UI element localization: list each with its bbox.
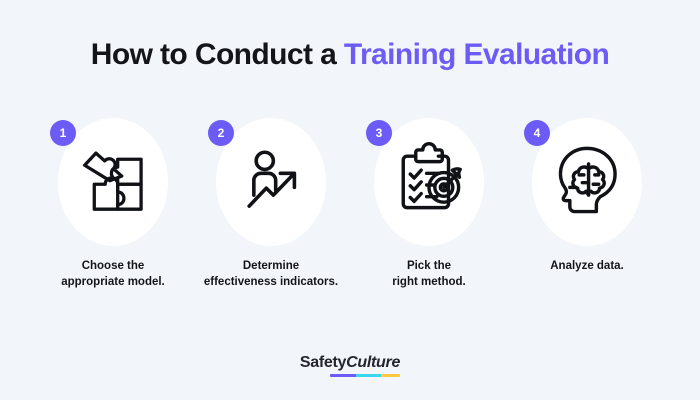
head-brain-gear-icon <box>548 139 626 217</box>
step-2-illustration: 2 <box>212 110 330 246</box>
step-item-1: 1 Choose the appropriate model. <box>34 110 192 291</box>
puzzle-pieces-icon <box>74 139 152 217</box>
step-2-number-badge: 2 <box>208 120 234 146</box>
logo-bar-segment-yellow <box>381 374 401 377</box>
step-3-illustration: 3 <box>370 110 488 246</box>
step-item-4: 4 Analyze data. <box>508 110 666 274</box>
step-1-number-badge: 1 <box>50 120 76 146</box>
person-growth-arrow-icon <box>232 139 310 217</box>
page-title-accent: Training Evaluation <box>344 38 609 71</box>
safetyculture-wordmark: SafetyCulture <box>300 354 400 377</box>
wordmark-safety: Safety <box>300 354 346 371</box>
page-title: How to Conduct a Training Evaluation <box>0 38 700 72</box>
footer-logo: SafetyCulture <box>0 354 700 382</box>
step-3-caption: Pick the right method. <box>351 258 507 291</box>
step-2-caption: Determine effectiveness indicators. <box>193 258 349 291</box>
step-3-number-badge: 3 <box>366 120 392 146</box>
step-4-caption: Analyze data. <box>509 258 665 274</box>
logo-bar-segment-cyan <box>356 374 380 377</box>
page-title-lead: How to Conduct a <box>91 38 344 71</box>
step-4-illustration: 4 <box>528 110 646 246</box>
wordmark-culture: Culture <box>346 354 400 371</box>
logo-accent-bar <box>330 374 400 377</box>
step-4-number-badge: 4 <box>524 120 550 146</box>
step-item-3: 3 Pick the right <box>350 110 508 291</box>
logo-bar-segment-purple <box>330 374 356 377</box>
step-1-illustration: 1 <box>54 110 172 246</box>
clipboard-checklist-target-icon <box>390 139 468 217</box>
step-1-caption: Choose the appropriate model. <box>35 258 191 291</box>
step-item-2: 2 Determine effectiveness indicators. <box>192 110 350 291</box>
steps-row: 1 Choose the appropriate model. 2 <box>0 110 700 291</box>
